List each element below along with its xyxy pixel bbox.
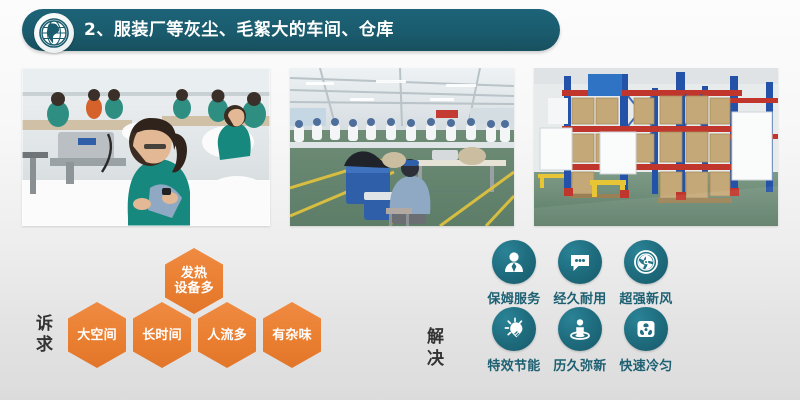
demand-hex-crowd-flow[interactable]: 人流多 bbox=[198, 302, 256, 368]
solution-item-label: 快速冷匀 bbox=[605, 355, 687, 374]
person-podium-icon bbox=[558, 307, 602, 351]
globe-icon bbox=[34, 13, 74, 53]
demand-hex-heat-equipment[interactable]: 发热设备多 bbox=[165, 248, 223, 314]
photo-factory-floor-workshop bbox=[290, 68, 514, 226]
page-title: 2、服装厂等灰尘、毛絮大的车间、仓库 bbox=[84, 9, 394, 51]
person-icon bbox=[492, 240, 536, 284]
speech-bubble-icon bbox=[558, 240, 602, 284]
header-banner: 2、服装厂等灰尘、毛絮大的车间、仓库 bbox=[22, 9, 560, 51]
photo-strip bbox=[0, 68, 800, 228]
solution-item-label: 超强新风 bbox=[605, 288, 687, 307]
photo-garment-factory-sewing bbox=[22, 68, 270, 226]
demand-hex-odor[interactable]: 有杂味 bbox=[263, 302, 321, 368]
demand-label: 诉求 bbox=[28, 314, 62, 356]
demand-hex-label: 发热设备多 bbox=[174, 266, 214, 296]
demand-hex-long-hours[interactable]: 长时间 bbox=[133, 302, 191, 368]
solution-label: 解决 bbox=[422, 326, 450, 370]
demand-hex-large-space[interactable]: 大空间 bbox=[68, 302, 126, 368]
solution-item-fast-even-cooling[interactable]: 快速冷匀 bbox=[605, 307, 687, 374]
solution-item-fresh-air[interactable]: 超强新风 bbox=[605, 240, 687, 307]
photo-warehouse-racking bbox=[534, 68, 778, 226]
fan-disc-icon bbox=[624, 240, 668, 284]
propeller-box-icon bbox=[624, 307, 668, 351]
lightbulb-icon bbox=[492, 307, 536, 351]
